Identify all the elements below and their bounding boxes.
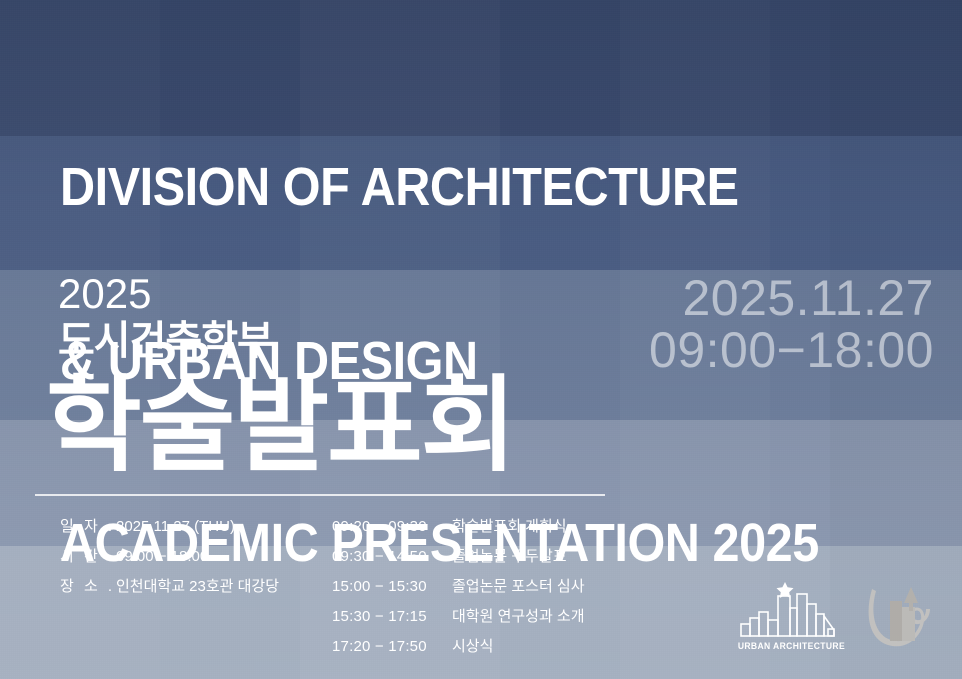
schedule-time: 15:00 − 15:30 — [332, 572, 452, 602]
schedule-time: 09:20 − 09:30 — [332, 512, 452, 542]
schedule-time: 09:30 − 14:50 — [332, 542, 452, 572]
info-label: 시 간 — [60, 542, 104, 572]
info-row: 시 간 . 09:00 − 18:00 — [60, 542, 279, 572]
info-value: 인천대학교 23호관 대강당 — [116, 572, 279, 602]
schedule-row: 09:20 − 09:30 학술발표회 개회식 — [332, 512, 585, 542]
schedule-row: 15:00 − 15:30 졸업논문 포스터 심사 — [332, 572, 585, 602]
info-label: 일 자 — [60, 512, 104, 542]
urban-architecture-label: URBAN ARCHITECTURE — [738, 641, 845, 651]
info-value: 09:00 − 18:00 — [116, 542, 208, 572]
info-separator: . — [104, 572, 116, 602]
info-list: 일 자 . 2025.11.27 (THU) 시 간 . 09:00 − 18:… — [60, 512, 279, 602]
iu-swoosh-monogram-icon — [864, 579, 940, 651]
schedule-row: 17:20 − 17:50 시상식 — [332, 632, 585, 662]
urban-architecture-logo: URBAN ARCHITECTURE — [735, 582, 848, 651]
schedule-time: 17:20 − 17:50 — [332, 632, 452, 662]
schedule-description: 대학원 연구성과 소개 — [452, 602, 585, 632]
schedule-description: 학술발표회 개회식 — [452, 512, 567, 542]
korean-department: 도시건축학부 — [58, 318, 273, 364]
logo-group: URBAN ARCHITECTURE — [735, 579, 940, 651]
city-skyline-star-icon — [738, 582, 846, 638]
korean-event-title: 학술발표회 — [46, 374, 514, 478]
poster-canvas: DIVISION OF ARCHITECTURE & URBAN DESIGN … — [0, 0, 962, 679]
korean-year: 2025 — [58, 272, 273, 316]
info-row: 일 자 . 2025.11.27 (THU) — [60, 512, 279, 542]
schedule-description: 졸업논문 구두발표 — [452, 542, 567, 572]
big-date-block: 2025.11.27 09:00−18:00 — [649, 272, 934, 376]
university-monogram-logo — [864, 579, 940, 651]
info-value: 2025.11.27 (THU) — [116, 512, 235, 542]
poster-content: DIVISION OF ARCHITECTURE & URBAN DESIGN … — [0, 0, 962, 679]
info-row: 장 소 . 인천대학교 23호관 대강당 — [60, 572, 279, 602]
horizontal-divider — [35, 494, 605, 496]
schedule-time: 15:30 − 17:15 — [332, 602, 452, 632]
korean-heading-block: 2025 도시건축학부 — [58, 272, 273, 364]
big-time-value: 09:00−18:00 — [649, 324, 934, 376]
schedule-row: 09:30 − 14:50 졸업논문 구두발표 — [332, 542, 585, 572]
schedule-description: 졸업논문 포스터 심사 — [452, 572, 585, 602]
info-separator: . — [104, 512, 116, 542]
info-separator: . — [104, 542, 116, 572]
schedule-row: 15:30 − 17:15 대학원 연구성과 소개 — [332, 602, 585, 632]
info-label: 장 소 — [60, 572, 104, 602]
big-date-value: 2025.11.27 — [649, 272, 934, 324]
schedule-list: 09:20 − 09:30 학술발표회 개회식 09:30 − 14:50 졸업… — [332, 512, 585, 662]
schedule-description: 시상식 — [452, 632, 493, 662]
headline-line-1: DIVISION OF ARCHITECTURE — [60, 158, 852, 216]
